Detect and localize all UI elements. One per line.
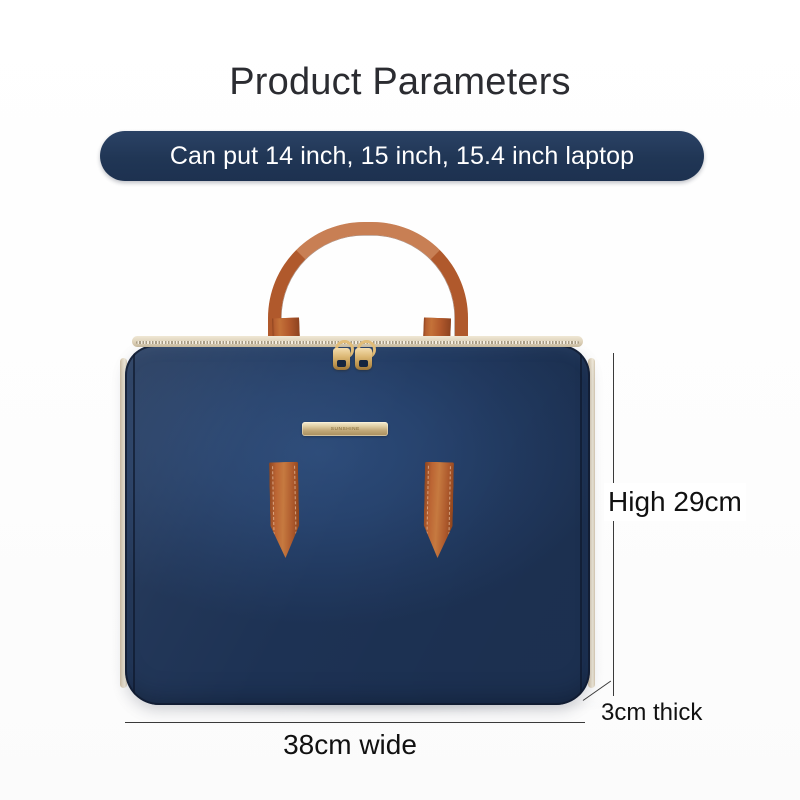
compatibility-banner-label: Can put 14 inch, 15 inch, 15.4 inch lapt… [170, 141, 634, 171]
product-parameters-page: Product Parameters Can put 14 inch, 15 i… [0, 0, 800, 800]
zipper-pull-right [355, 340, 372, 370]
handle-stitching-left [272, 466, 297, 540]
zipper-slider-right [355, 348, 372, 370]
handle-stitching-right [426, 466, 451, 540]
bag-body [125, 345, 590, 705]
height-dimension-label: High 29cm [604, 483, 746, 521]
product-image: SUNSHINE High 29cm 38cm wide 3cm thick [80, 200, 640, 720]
bag-seam-right [580, 351, 582, 699]
compatibility-banner: Can put 14 inch, 15 inch, 15.4 inch lapt… [100, 131, 704, 181]
bag-outline [125, 345, 590, 705]
brand-logo-text: SUNSHINE [330, 426, 359, 432]
width-dimension-label: 38cm wide [80, 727, 620, 763]
bag-seam-left [133, 351, 135, 699]
width-dimension-line [125, 722, 585, 723]
page-title: Product Parameters [0, 57, 800, 107]
brand-logo-plate: SUNSHINE [302, 422, 388, 436]
zipper-pull-left [333, 340, 350, 370]
height-dimension-line [613, 353, 614, 696]
thickness-dimension-label: 3cm thick [601, 697, 702, 729]
bag-sheen [125, 345, 590, 705]
zipper-slider-left [333, 348, 350, 370]
